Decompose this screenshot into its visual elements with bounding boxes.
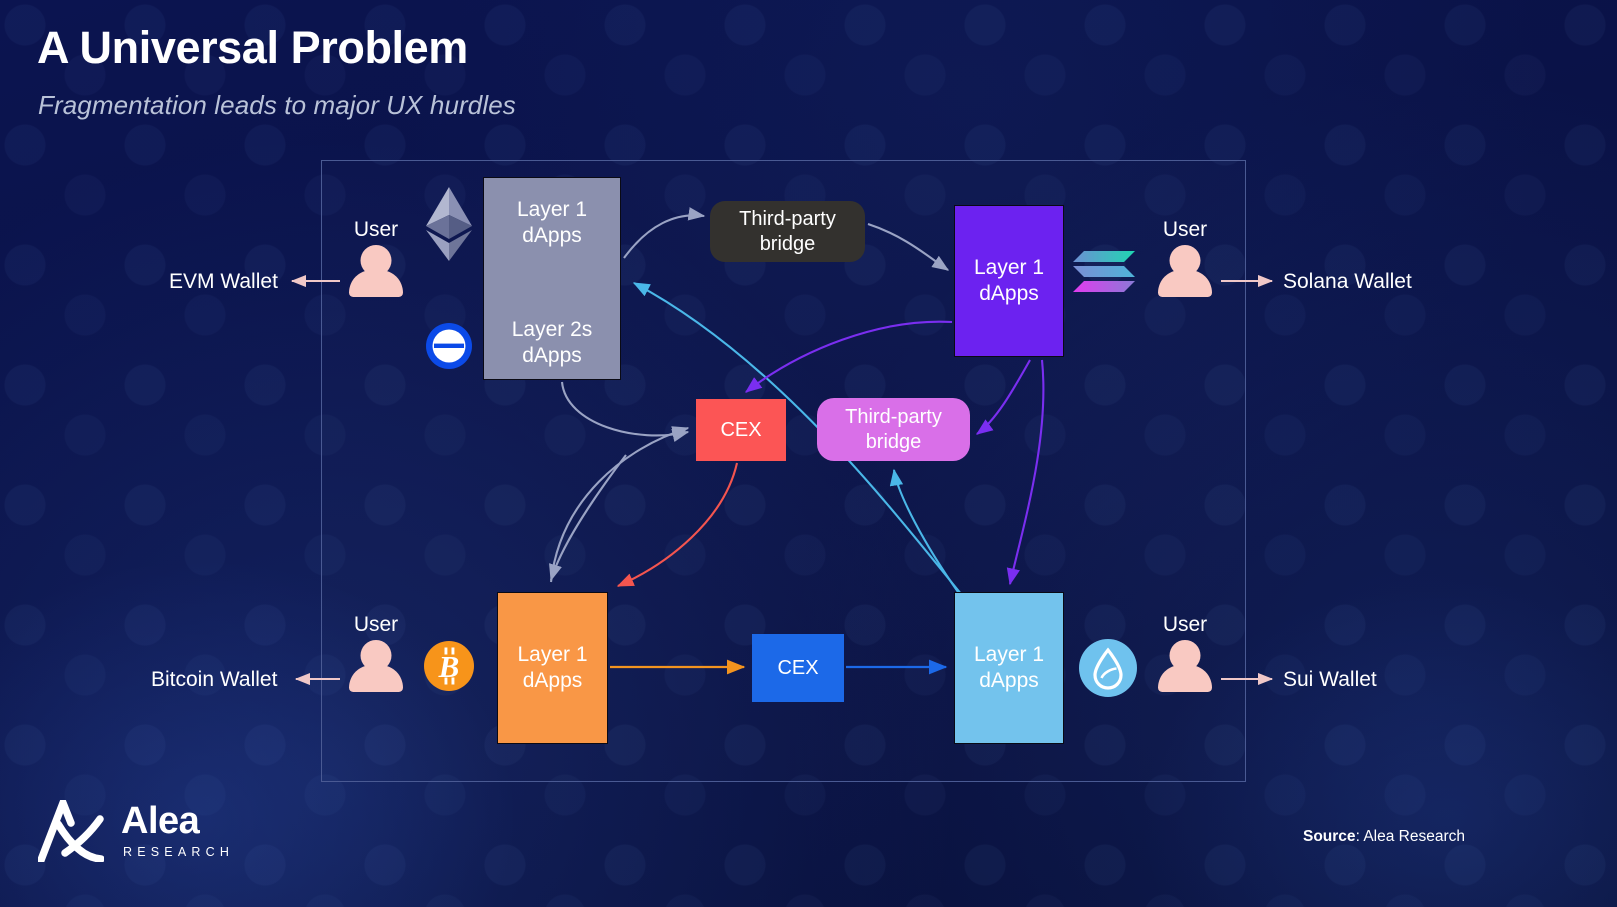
- node-cex-red[interactable]: CEX: [696, 399, 786, 461]
- alea-logo-subtitle: RESEARCH: [123, 845, 234, 859]
- bridge-pink-line1: Third-party: [845, 406, 942, 428]
- user-group-bitcoin: User: [348, 613, 404, 692]
- avatar: [1157, 245, 1213, 297]
- source-attribution: Source: Alea Research: [1303, 828, 1465, 846]
- user-group-evm: User: [348, 218, 404, 297]
- node-sui-dapps[interactable]: Layer 1 dApps: [954, 592, 1064, 744]
- source-label: Source: [1303, 828, 1356, 845]
- user-label-solana: User: [1163, 218, 1207, 242]
- sui-line2: dApps: [979, 668, 1039, 694]
- bitcoin-line2: dApps: [523, 668, 583, 694]
- wallet-label-solana: Solana Wallet: [1283, 270, 1412, 294]
- evm-l2-line2: dApps: [484, 343, 620, 369]
- evm-l1-line2: dApps: [522, 223, 582, 249]
- node-bitcoin-dapps[interactable]: Layer 1 dApps: [497, 592, 608, 744]
- evm-l2-line1: Layer 2s: [484, 317, 620, 343]
- alea-logo-mark: [38, 800, 104, 862]
- alea-logo-name: Alea: [121, 803, 234, 840]
- node-third-party-bridge-dark[interactable]: Third-party bridge: [710, 201, 865, 262]
- base-icon: [425, 322, 473, 370]
- alea-logo-text: Alea RESEARCH: [121, 803, 234, 858]
- user-label-evm: User: [354, 218, 398, 242]
- node-evm-layer2-group: Layer 2s dApps: [484, 317, 620, 368]
- avatar: [1157, 640, 1213, 692]
- solana-line2: dApps: [979, 281, 1039, 307]
- sui-line1: Layer 1: [974, 642, 1044, 668]
- node-cex-blue[interactable]: CEX: [752, 634, 844, 702]
- evm-l1-line1: Layer 1: [517, 197, 587, 223]
- user-label-bitcoin: User: [354, 613, 398, 637]
- bitcoin-line1: Layer 1: [517, 642, 587, 668]
- user-group-sui: User: [1157, 613, 1213, 692]
- page-subtitle: Fragmentation leads to major UX hurdles: [38, 90, 516, 121]
- bridge-dark-line1: Third-party: [739, 208, 836, 230]
- source-value: : Alea Research: [1356, 828, 1465, 845]
- user-label-sui: User: [1163, 613, 1207, 637]
- node-evm-dapps[interactable]: Layer 1 dApps Layer 2s dApps: [483, 177, 621, 380]
- svg-text:B: B: [438, 649, 460, 684]
- user-group-solana: User: [1157, 218, 1213, 297]
- bitcoin-icon: B: [423, 640, 475, 692]
- wallet-label-bitcoin: Bitcoin Wallet: [151, 668, 277, 692]
- solana-icon: [1072, 248, 1136, 298]
- wallet-label-sui: Sui Wallet: [1283, 668, 1377, 692]
- avatar: [348, 640, 404, 692]
- solana-line1: Layer 1: [974, 255, 1044, 281]
- page-title: A Universal Problem: [37, 22, 468, 74]
- bridge-dark-line2: bridge: [760, 233, 816, 255]
- node-third-party-bridge-pink[interactable]: Third-party bridge: [817, 398, 970, 461]
- ethereum-icon: [424, 186, 474, 262]
- avatar: [348, 245, 404, 297]
- bridge-pink-line2: bridge: [866, 431, 922, 453]
- wallet-label-evm: EVM Wallet: [169, 270, 278, 294]
- node-solana-dapps[interactable]: Layer 1 dApps: [954, 205, 1064, 357]
- slide-canvas: A Universal Problem Fragmentation leads …: [0, 0, 1617, 907]
- sui-icon: [1078, 638, 1138, 698]
- alea-logo: Alea RESEARCH: [38, 800, 234, 862]
